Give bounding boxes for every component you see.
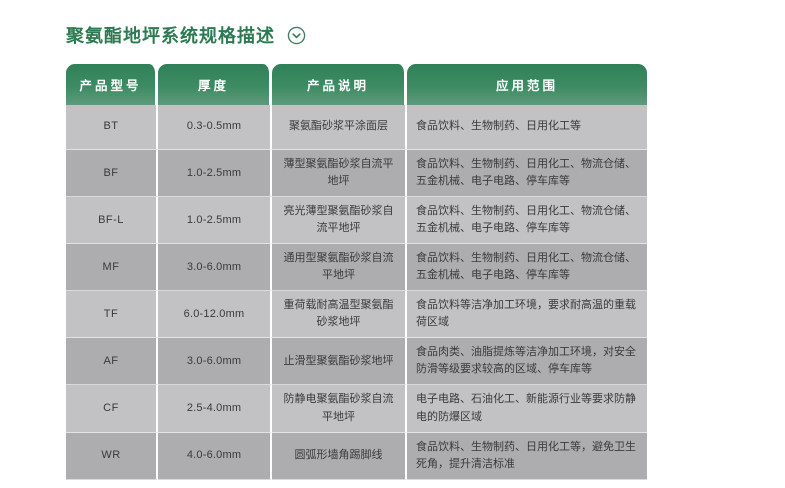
cell-model: WR — [66, 433, 158, 480]
table-body: BT 0.3-0.5mm 聚氨酯砂浆平涂面层 食品饮料、生物制药、日用化工等 B… — [66, 105, 647, 480]
column-header-description: 产品说明 — [272, 64, 407, 105]
cell-application: 食品饮料、生物制药、日用化工、物流仓储、五金机械、电子电路、停车库等 — [407, 197, 647, 244]
column-header-model: 产品型号 — [66, 64, 158, 105]
spec-table: 产品型号 厚度 产品说明 应用范围 BT 0.3-0.5mm 聚氨酯砂浆平涂面层… — [66, 64, 647, 480]
cell-application: 食品肉类、油脂提炼等洁净加工环境，对安全防滑等级要求较高的区域、停车库等 — [407, 338, 647, 385]
cell-model: AF — [66, 338, 158, 385]
page-title: 聚氨酯地坪系统规格描述 — [66, 27, 275, 45]
table-row: AF 3.0-6.0mm 止滑型聚氨酯砂浆地坪 食品肉类、油脂提炼等洁净加工环境… — [66, 338, 647, 385]
table-row: WR 4.0-6.0mm 圆弧形墙角踢脚线 食品饮料、生物制药、日用化工等，避免… — [66, 433, 647, 480]
cell-model: BF — [66, 150, 158, 197]
cell-model: CF — [66, 385, 158, 432]
cell-model: BT — [66, 105, 158, 150]
cell-model: MF — [66, 244, 158, 291]
cell-application: 电子电路、石油化工、新能源行业等要求防静电的防爆区域 — [407, 385, 647, 432]
cell-thickness: 3.0-6.0mm — [158, 244, 272, 291]
section-header[interactable]: 聚氨酯地坪系统规格描述 — [66, 26, 306, 45]
cell-description: 通用型聚氨酯砂浆自流平地坪 — [272, 244, 407, 291]
table-row: BT 0.3-0.5mm 聚氨酯砂浆平涂面层 食品饮料、生物制药、日用化工等 — [66, 105, 647, 150]
cell-application: 食品饮料、生物制药、日用化工等 — [407, 105, 647, 150]
cell-model: BF-L — [66, 197, 158, 244]
table-header-row: 产品型号 厚度 产品说明 应用范围 — [66, 64, 647, 105]
cell-description: 重荷载耐高温型聚氨酯砂浆地坪 — [272, 291, 407, 338]
table-row: MF 3.0-6.0mm 通用型聚氨酯砂浆自流平地坪 食品饮料、生物制药、日用化… — [66, 244, 647, 291]
collapse-toggle[interactable] — [287, 26, 306, 45]
table-row: TF 6.0-12.0mm 重荷载耐高温型聚氨酯砂浆地坪 食品饮料等洁净加工环境… — [66, 291, 647, 338]
cell-description: 防静电聚氨酯砂浆自流平地坪 — [272, 385, 407, 432]
table-row: BF 1.0-2.5mm 薄型聚氨酯砂浆自流平地坪 食品饮料、生物制药、日用化工… — [66, 150, 647, 197]
cell-thickness: 3.0-6.0mm — [158, 338, 272, 385]
cell-application: 食品饮料、生物制药、日用化工等，避免卫生死角，提升清洁标准 — [407, 433, 647, 480]
cell-application: 食品饮料、生物制药、日用化工、物流仓储、五金机械、电子电路、停车库等 — [407, 150, 647, 197]
table-header: 产品型号 厚度 产品说明 应用范围 — [66, 64, 647, 105]
cell-thickness: 0.3-0.5mm — [158, 105, 272, 150]
column-header-thickness: 厚度 — [158, 64, 272, 105]
cell-application: 食品饮料、生物制药、日用化工、物流仓储、五金机械、电子电路、停车库等 — [407, 244, 647, 291]
cell-description: 止滑型聚氨酯砂浆地坪 — [272, 338, 407, 385]
table-row: CF 2.5-4.0mm 防静电聚氨酯砂浆自流平地坪 电子电路、石油化工、新能源… — [66, 385, 647, 432]
cell-model: TF — [66, 291, 158, 338]
cell-description: 亮光薄型聚氨酯砂浆自流平地坪 — [272, 197, 407, 244]
table-row: BF-L 1.0-2.5mm 亮光薄型聚氨酯砂浆自流平地坪 食品饮料、生物制药、… — [66, 197, 647, 244]
cell-thickness: 2.5-4.0mm — [158, 385, 272, 432]
cell-thickness: 1.0-2.5mm — [158, 150, 272, 197]
cell-thickness: 1.0-2.5mm — [158, 197, 272, 244]
cell-description: 薄型聚氨酯砂浆自流平地坪 — [272, 150, 407, 197]
cell-application: 食品饮料等洁净加工环境，要求耐高温的重载荷区域 — [407, 291, 647, 338]
cell-thickness: 4.0-6.0mm — [158, 433, 272, 480]
cell-description: 聚氨酯砂浆平涂面层 — [272, 105, 407, 150]
column-header-application: 应用范围 — [407, 64, 647, 105]
cell-description: 圆弧形墙角踢脚线 — [272, 433, 407, 480]
chevron-down-circle-icon — [287, 26, 306, 45]
page-root: 聚氨酯地坪系统规格描述 产品型号 厚度 产品说明 应用范围 BT — [0, 0, 785, 488]
cell-thickness: 6.0-12.0mm — [158, 291, 272, 338]
